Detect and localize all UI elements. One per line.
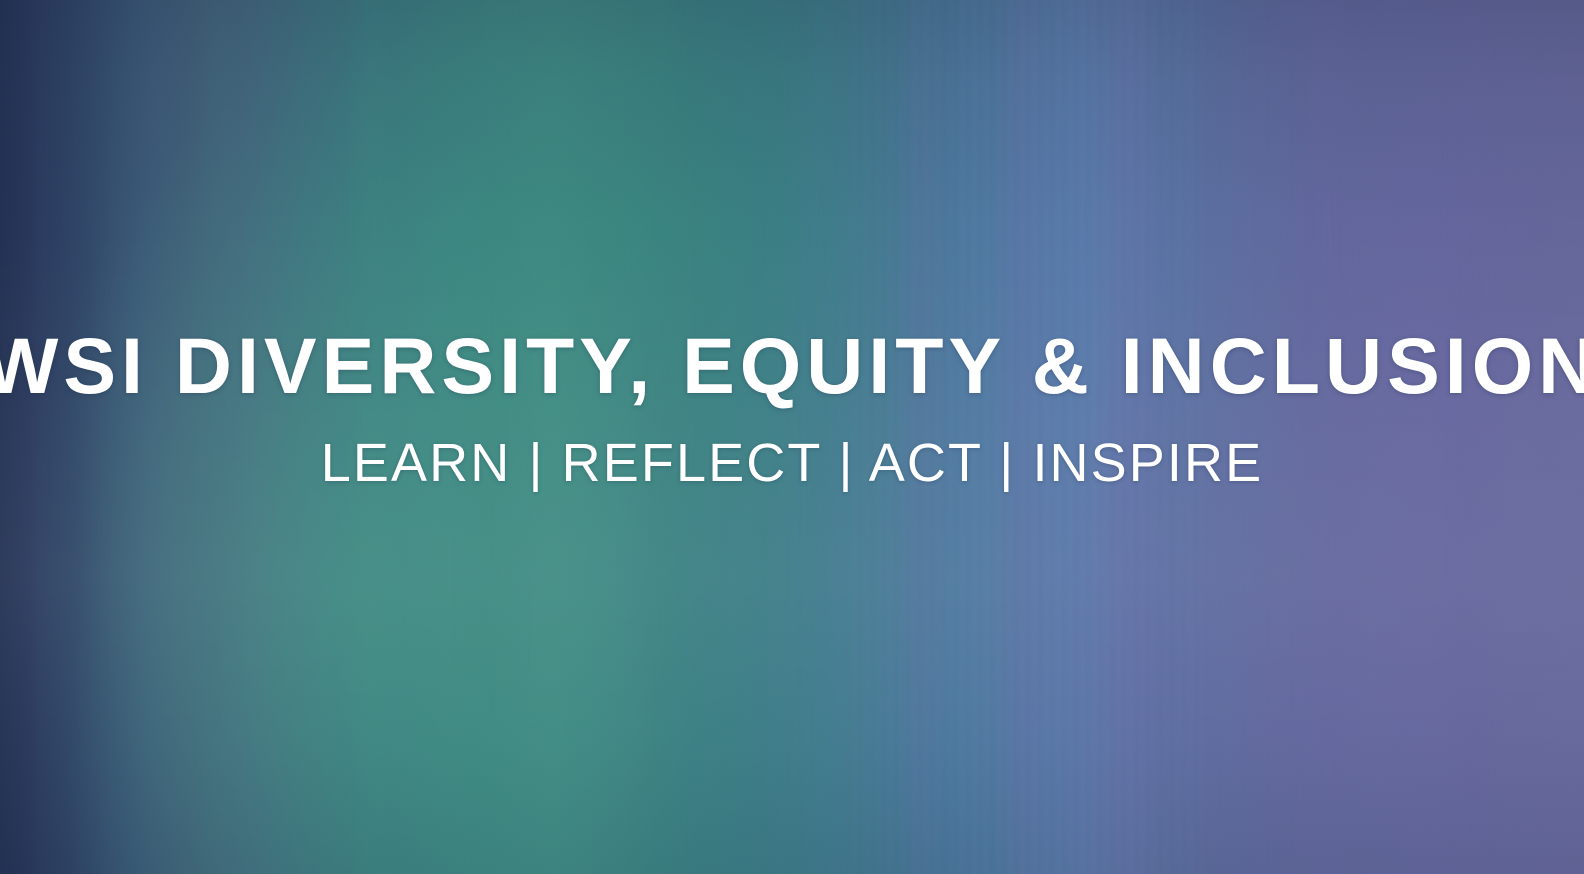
banner-text-block: WSI DIVERSITY, EQUITY & INCLUSION LEARN … (0, 0, 1584, 874)
dei-hero-banner: WSI DIVERSITY, EQUITY & INCLUSION LEARN … (0, 0, 1584, 874)
banner-subtitle: LEARN | REFLECT | ACT | INSPIRE (321, 436, 1263, 490)
banner-headline: WSI DIVERSITY, EQUITY & INCLUSION (0, 326, 1584, 405)
